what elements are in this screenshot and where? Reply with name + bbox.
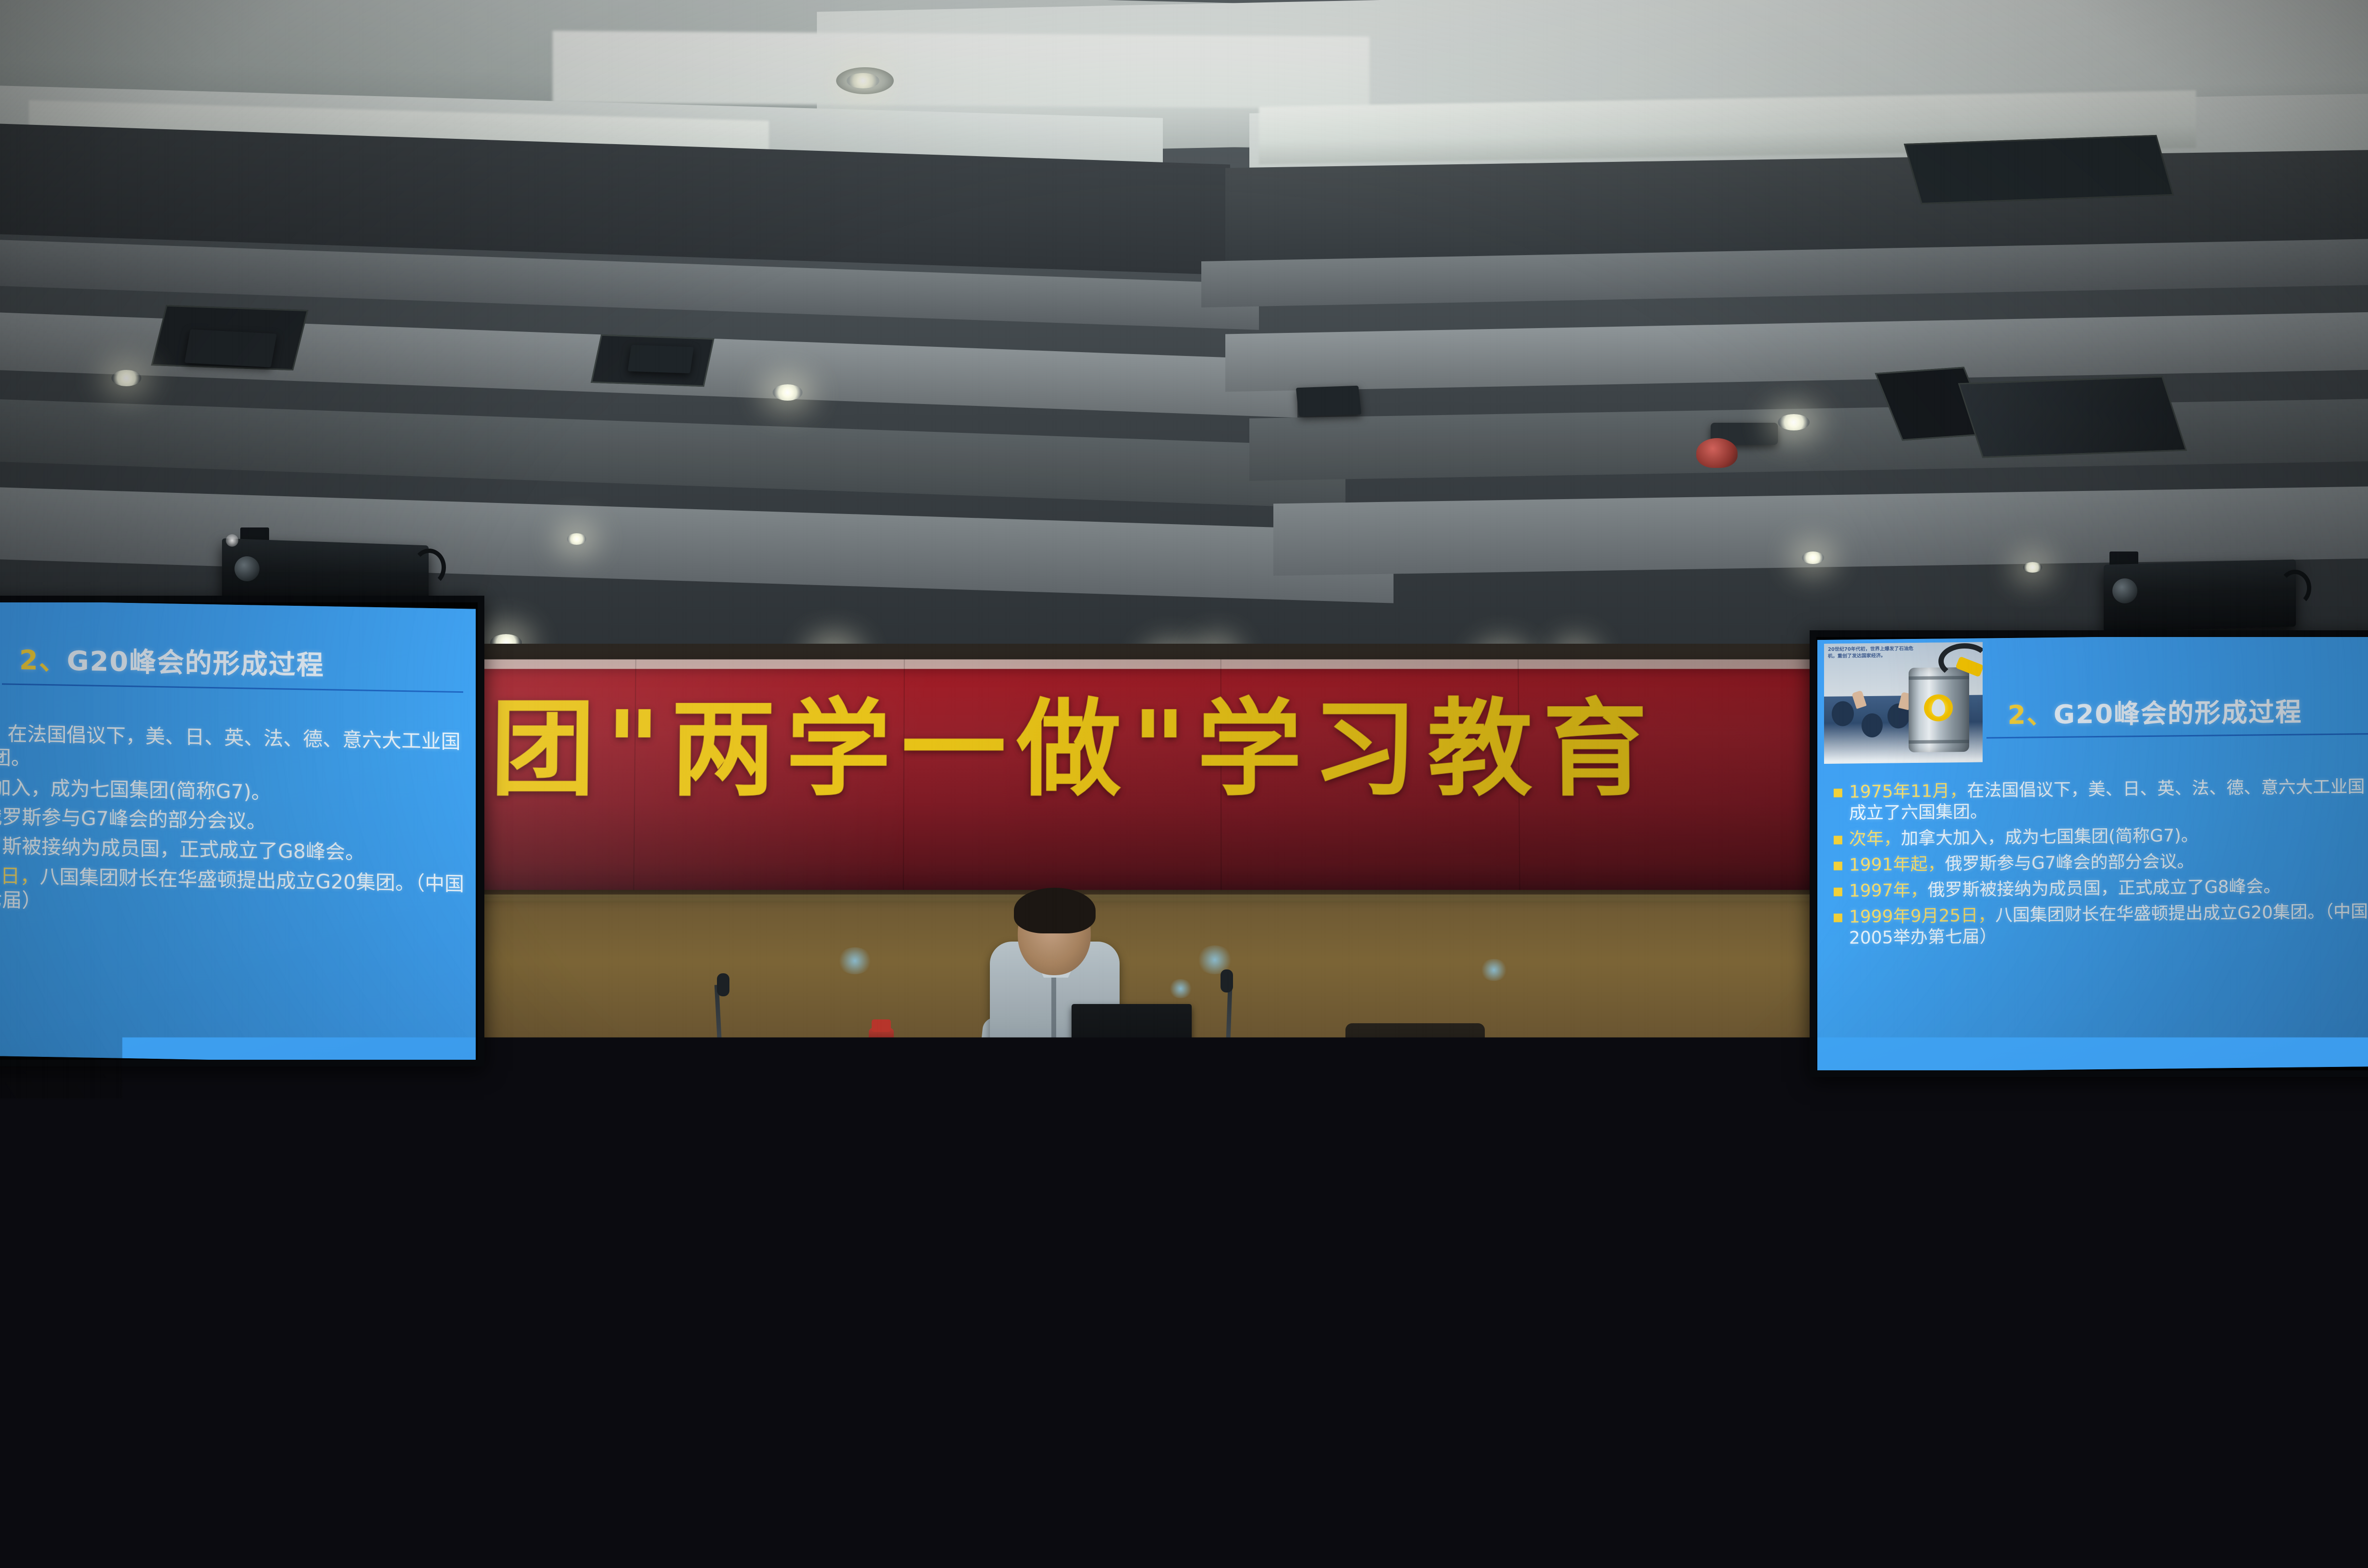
seat: [336, 1152, 432, 1204]
ceiling-downlight-12: [1802, 551, 1824, 564]
seat: [1711, 1157, 1812, 1210]
seat-number-plate: [1533, 1443, 1555, 1454]
left-projection-screen[interactable]: 20世纪70年代初，世界上爆发了石油危机，重创了发达国家经济。 2、G20峰会的…: [0, 596, 484, 1066]
audience-head: [183, 1129, 238, 1189]
ceiling-vent-right: [1958, 376, 2187, 458]
audience-head: [1355, 1126, 1415, 1190]
banner-sheen: [431, 660, 1842, 890]
ceiling-downlight-1: [847, 73, 879, 88]
ceiling-band-r4: [1249, 398, 2368, 481]
conference-hall-photo: 集团"两学一做"学习教育 斯国新: [0, 0, 2368, 1568]
seat: [750, 1229, 870, 1298]
seat-number-plate: [567, 1443, 589, 1454]
audience-head: [1090, 1172, 1157, 1244]
audience-head: [735, 1125, 794, 1189]
water-bottle-audience: [431, 1240, 443, 1274]
seat: [250, 1484, 452, 1568]
seat: [567, 1154, 663, 1206]
ceiling-band-r3: [1225, 311, 2368, 392]
wall-reflection-4: [1480, 959, 1508, 981]
audience-head: [1306, 1199, 1382, 1282]
right-projection-screen[interactable]: 20世纪70年代初，世界上爆发了石油危机，重创了发达国家经济。 2、G20峰会的…: [1810, 630, 2368, 1077]
audience-head: [432, 1379, 536, 1490]
seat-number-plate: [58, 1437, 80, 1448]
left-screen-frame: [0, 596, 484, 1066]
seat: [1470, 1156, 1571, 1209]
ceiling-speaker-left: [185, 329, 277, 367]
air-vent-icon: [1904, 135, 2174, 204]
ceiling-downlight-13: [2023, 562, 2042, 573]
audience-head: [999, 1131, 1055, 1192]
audience-head: [524, 1204, 596, 1282]
ceiling-downlight-4: [1778, 414, 1810, 430]
bottle-cap: [872, 1019, 891, 1032]
audience-head: [2249, 1130, 2309, 1195]
audience-head: [2057, 1134, 2116, 1198]
cove-light-center: [553, 31, 1369, 109]
audience-head: [58, 1121, 114, 1184]
seat: [1528, 1499, 1735, 1568]
seat: [1230, 1158, 1331, 1211]
ceiling-speaker-right: [1296, 386, 1361, 417]
seat: [1466, 1229, 1586, 1297]
ceiling-downlight-3: [773, 384, 802, 401]
ceiling-downlight-2: [111, 370, 141, 386]
audience-head: [1864, 1132, 1922, 1194]
seat: [0, 1229, 120, 1296]
seat: [2191, 1235, 2321, 1306]
seat: [788, 1155, 884, 1207]
event-banner: 集团"两学一做"学习教育: [431, 660, 1842, 890]
wall-reflection-3: [1169, 979, 1193, 998]
seat: [1936, 1232, 2061, 1302]
audience-head: [2061, 1372, 2168, 1486]
audience-head: [1711, 1373, 1814, 1485]
ceiling-band-l5: [0, 487, 1394, 603]
audience-head: [120, 1350, 221, 1459]
wall-reflection-1: [837, 947, 873, 974]
ceiling-downlight-11: [567, 533, 586, 545]
audience-head: [1050, 1357, 1157, 1472]
seat: [836, 1494, 1038, 1568]
microphone-head-right: [1221, 969, 1233, 992]
microphone-head-left: [717, 973, 729, 996]
audience-head: [225, 1213, 297, 1290]
head-table-edge: [442, 1070, 1547, 1075]
ceiling-speaker-mid: [628, 345, 694, 374]
smoke-detector-icon: [1696, 438, 1738, 468]
audience-head: [1651, 1201, 1726, 1282]
phone-screen: [442, 1290, 458, 1315]
audience-head: [471, 1127, 529, 1190]
right-screen-frame: [1810, 630, 2368, 1077]
speaker-hair: [1014, 888, 1096, 933]
seat: [1961, 1159, 2066, 1213]
audience-head: [1377, 1363, 1483, 1478]
audience-seating: [0, 1100, 2368, 1568]
audience-head: [710, 1369, 813, 1479]
audience-head: [269, 1134, 322, 1191]
watermark: 萧山污水: [2262, 1528, 2351, 1556]
audience-head: [1615, 1129, 1673, 1192]
ceiling-band-l4: [0, 399, 1345, 509]
